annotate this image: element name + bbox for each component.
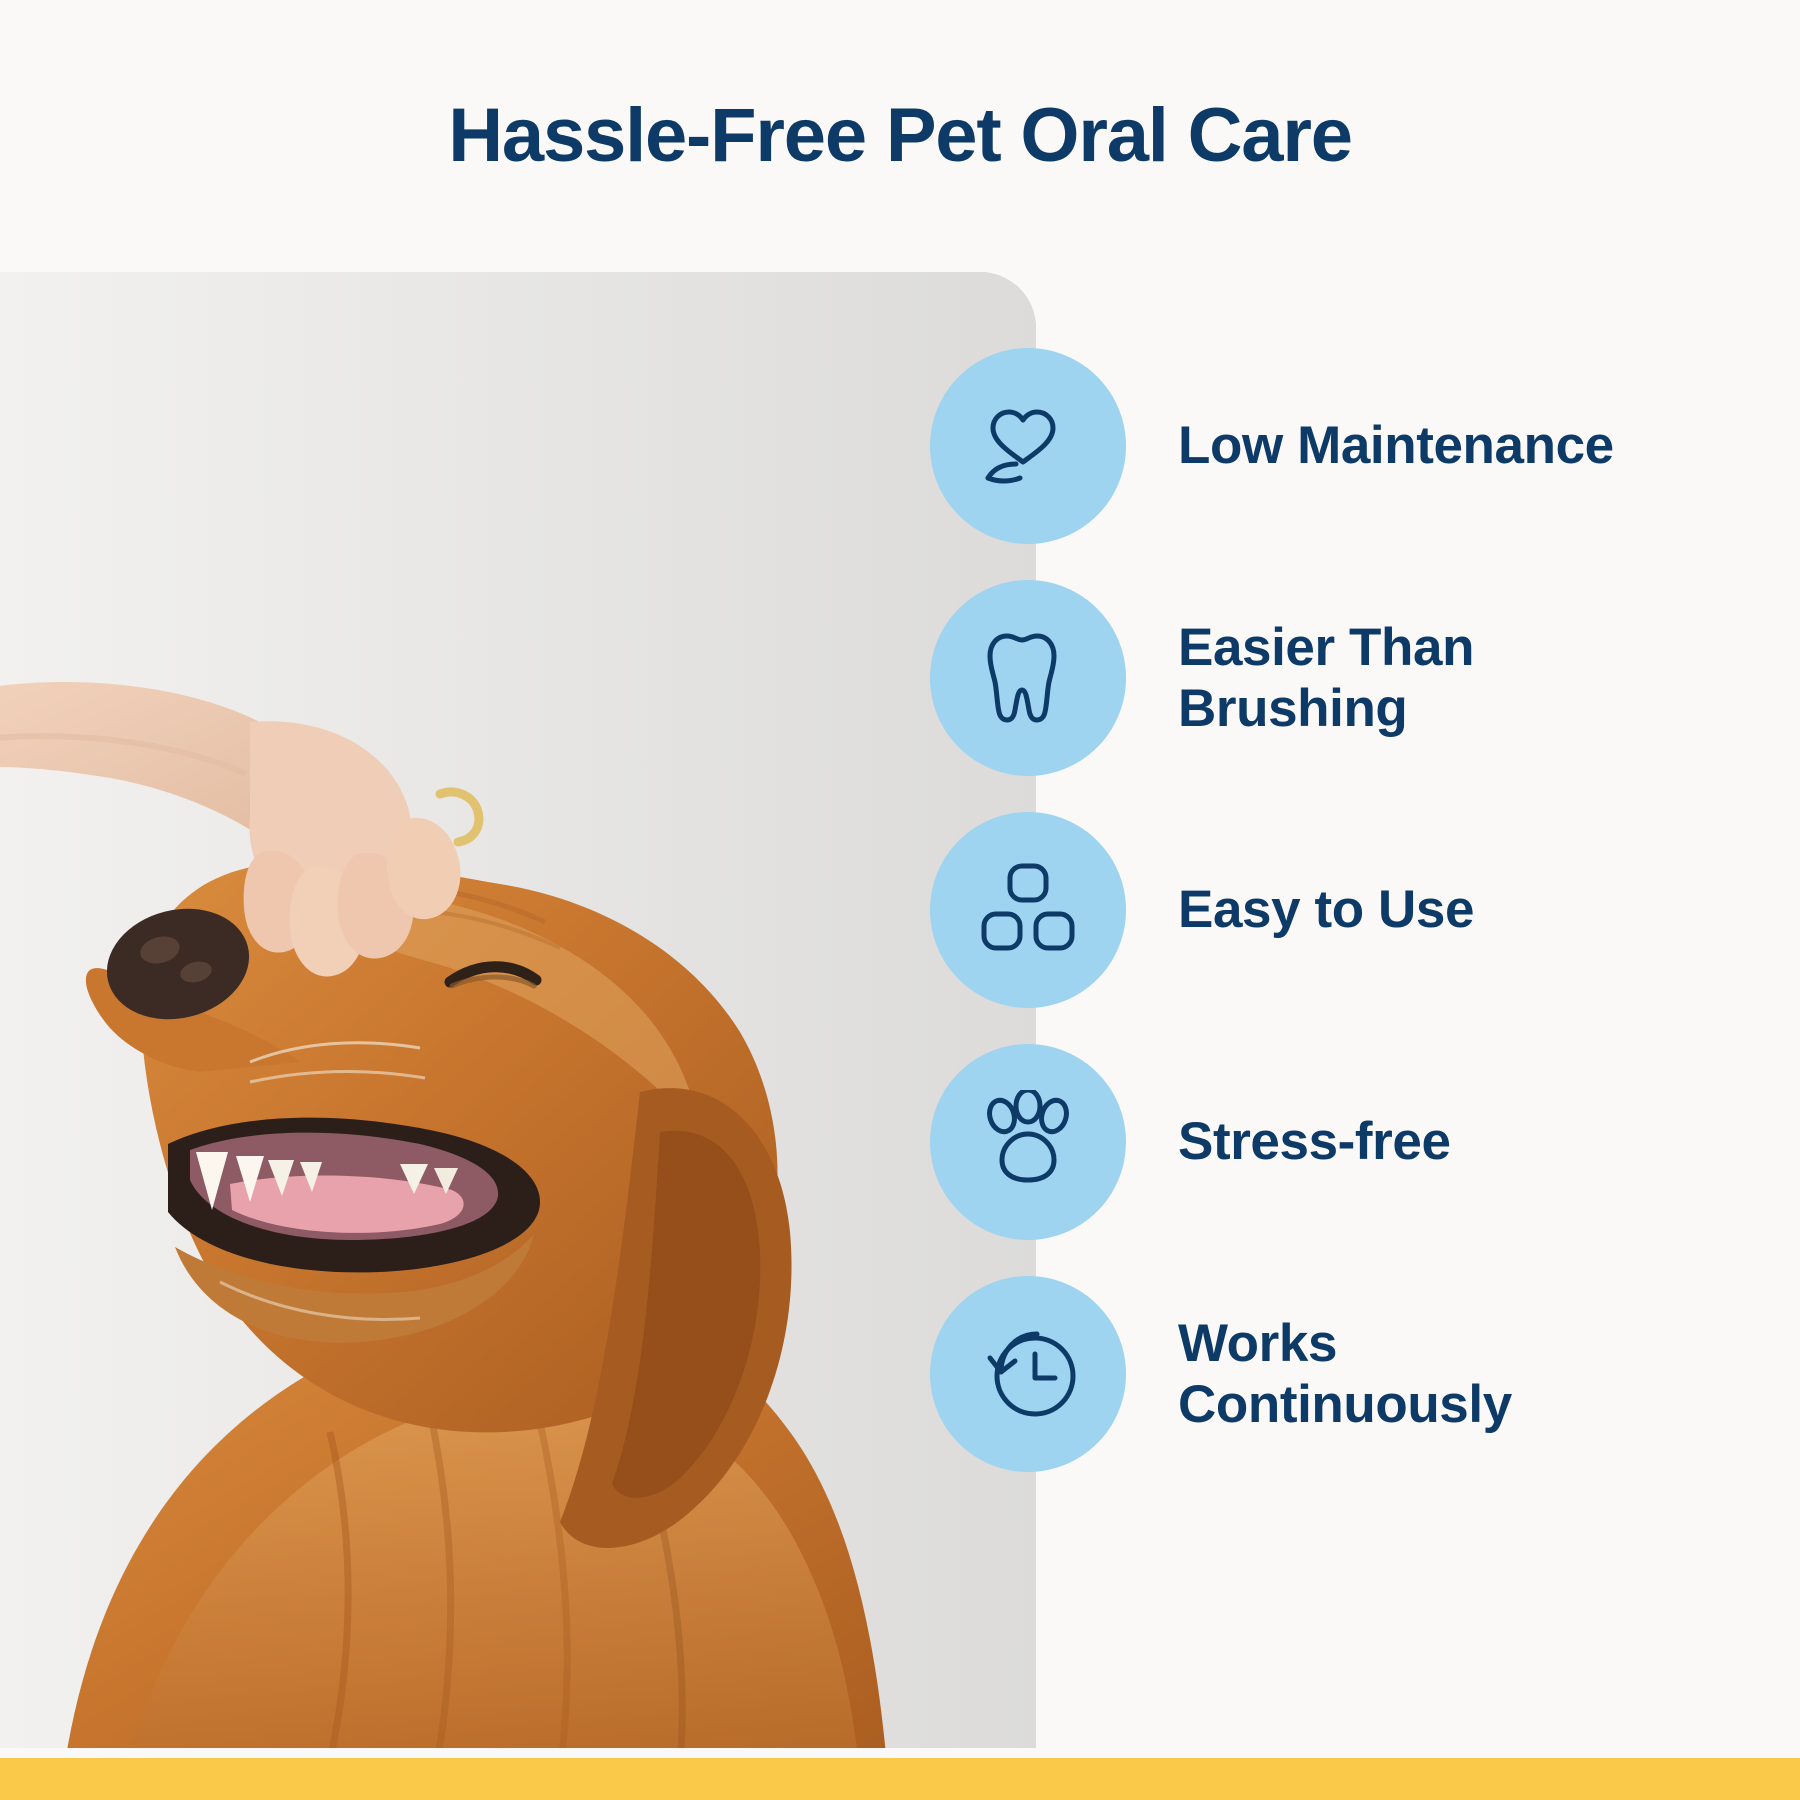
bottom-strip [0,1748,1800,1758]
product-photo [0,272,1036,1800]
feature-label: Low Maintenance [1178,415,1614,476]
bottom-accent-bar [0,1758,1800,1800]
page-title: Hassle-Free Pet Oral Care [448,98,1352,174]
paw-print-icon [930,1044,1126,1240]
header: Hassle-Free Pet Oral Care [0,0,1800,272]
feature-list: Low Maintenance Easier Than Brushing Eas… [930,330,1790,1490]
feature-label: Works Continuously [1178,1313,1648,1436]
heart-with-brush-icon [930,348,1126,544]
promo-poster: Hassle-Free Pet Oral Care [0,0,1800,1800]
feature-item: Stress-free [930,1026,1790,1258]
feature-label: Easier Than Brushing [1178,617,1648,740]
tooth-icon [930,580,1126,776]
feature-label: Easy to Use [1178,879,1474,940]
feature-item: Easy to Use [930,794,1790,1026]
feature-item: Low Maintenance [930,330,1790,562]
chews-pieces-icon [930,812,1126,1008]
feature-item: Easier Than Brushing [930,562,1790,794]
clock-arrow-icon [930,1276,1126,1472]
dog-illustration [0,272,1036,1800]
feature-label: Stress-free [1178,1111,1451,1172]
feature-item: Works Continuously [930,1258,1790,1490]
